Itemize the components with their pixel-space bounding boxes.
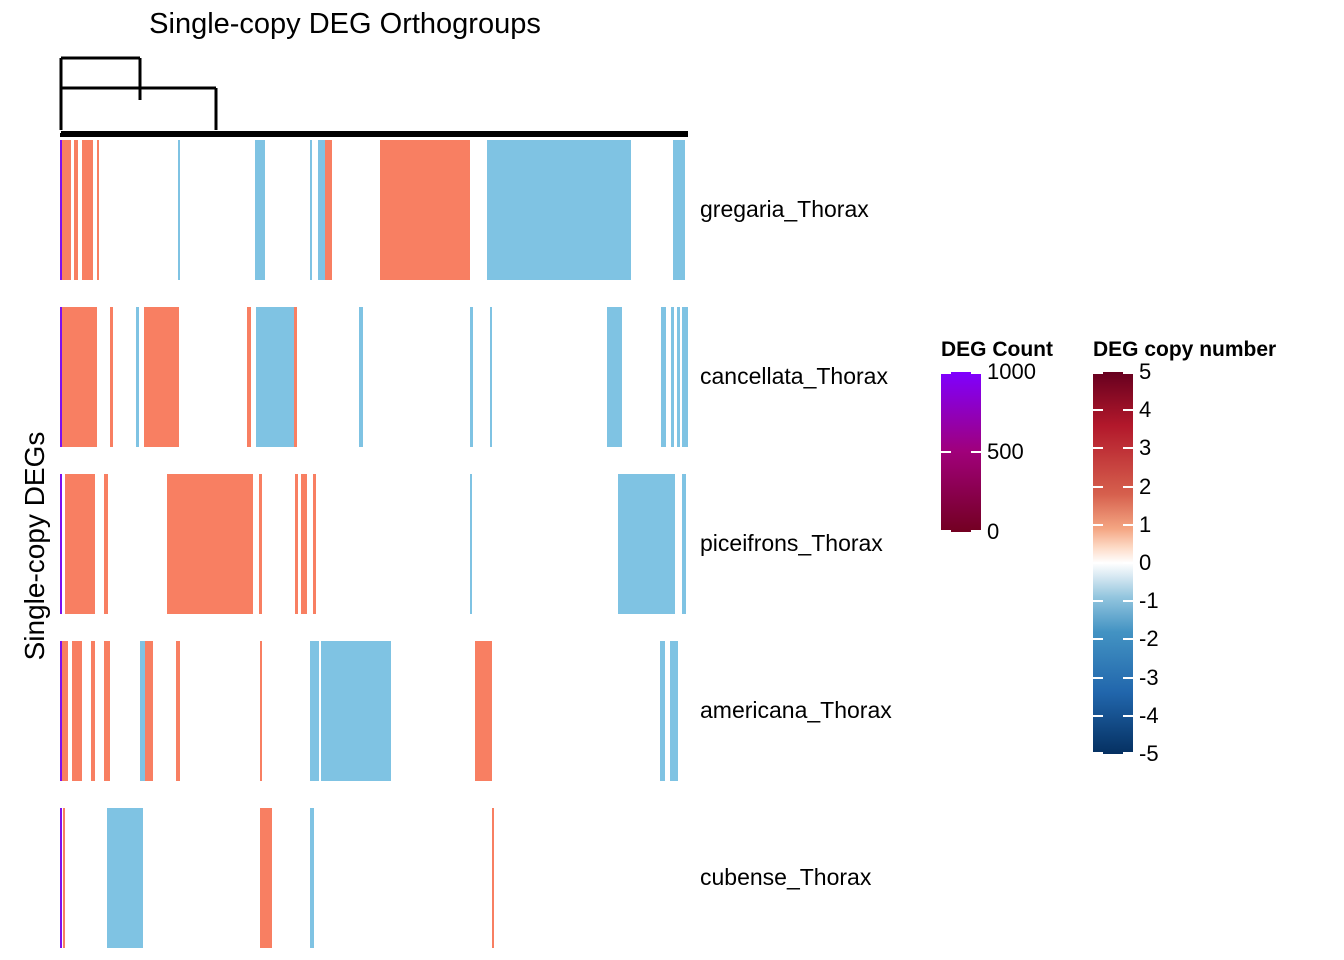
heatmap-cell — [145, 641, 153, 781]
legend-tick-label: 2 — [1139, 476, 1151, 498]
legend-tick-mark — [1093, 372, 1133, 374]
heatmap-cell — [97, 140, 99, 280]
heatmap-cell — [660, 641, 665, 781]
legend-tick-label: -5 — [1139, 743, 1159, 765]
heatmap-cell — [607, 307, 622, 447]
heatmap-cell — [63, 808, 65, 948]
legend-tick-label: 1000 — [987, 361, 1036, 383]
heatmap-cell — [62, 140, 71, 280]
heatmap-cell — [62, 641, 68, 781]
heatmap-cell — [259, 474, 262, 614]
legend-tick-label: -4 — [1139, 705, 1159, 727]
heatmap-cell — [487, 140, 631, 280]
heatmap-cell — [62, 307, 97, 447]
heatmap-cell — [682, 307, 688, 447]
heatmap-cell — [661, 307, 666, 447]
heatmap-cell — [256, 307, 296, 447]
heatmap-row-label: cubense_Thorax — [700, 866, 871, 889]
heatmap-cell — [673, 140, 685, 280]
heatmap-cell — [167, 474, 253, 614]
heatmap-cell — [301, 474, 307, 614]
heatmap-cell — [104, 474, 108, 614]
legend-tick-mark — [1093, 752, 1133, 754]
heatmap-cell — [260, 808, 272, 948]
heatmap-cell — [136, 307, 139, 447]
heatmap-cell — [74, 140, 78, 280]
legend-tick-label: -1 — [1139, 590, 1159, 612]
legend-tick-mark — [1093, 447, 1133, 449]
legend-deg-count-ticks: 10005000 — [941, 372, 981, 532]
legend-tick-label: 5 — [1139, 361, 1151, 383]
legend-tick-label: 3 — [1139, 437, 1151, 459]
legend-tick-mark — [1093, 409, 1133, 411]
heatmap-cell — [255, 140, 265, 280]
heatmap-cell — [475, 641, 492, 781]
legend-tick-label: 500 — [987, 441, 1024, 463]
legend-tick-mark — [1093, 524, 1133, 526]
legend-tick-label: 1 — [1139, 514, 1151, 536]
heatmap-cell — [670, 641, 678, 781]
heatmap-row — [60, 641, 688, 781]
heatmap-cell — [325, 140, 332, 280]
heatmap-cell — [247, 307, 251, 447]
heatmap-row — [60, 474, 688, 614]
heatmap-cell — [310, 808, 314, 948]
heatmap-cell — [677, 307, 680, 447]
legend-tick-label: 0 — [987, 521, 999, 543]
legend-tick-mark — [1093, 600, 1133, 602]
heatmap-cell — [91, 641, 95, 781]
heatmap-cell — [72, 641, 82, 781]
legend-tick-mark — [1093, 638, 1133, 640]
heatmap-cell — [310, 140, 312, 280]
heatmap-cell — [682, 474, 686, 614]
heatmap-cell — [313, 474, 316, 614]
legend-tick-mark — [1093, 562, 1133, 564]
heatmap-cell — [470, 474, 472, 614]
legend-tick-mark — [941, 372, 981, 374]
heatmap-row — [60, 307, 688, 447]
legend-tick-label: 0 — [1139, 552, 1151, 574]
heatmap-cell — [318, 140, 325, 280]
heatmap-cell — [260, 641, 262, 781]
legend-tick-mark — [941, 451, 981, 453]
heatmap-cell — [107, 808, 143, 948]
heatmap-cell — [618, 474, 675, 614]
heatmap-cell — [104, 641, 110, 781]
legend-tick-mark — [1093, 715, 1133, 717]
heatmap-cell — [490, 307, 492, 447]
deg-count-annotation-band — [60, 474, 62, 614]
legend-tick-label: 4 — [1139, 399, 1151, 421]
legend-copy-number-ticks: 543210-1-2-3-4-5 — [1093, 372, 1133, 754]
heatmap-cell — [359, 307, 363, 447]
heatmap-cell — [380, 140, 470, 280]
heatmap-cell — [294, 307, 297, 447]
heatmap-cell — [310, 641, 319, 781]
heatmap-row-label: gregaria_Thorax — [700, 198, 869, 221]
heatmap-cell — [110, 307, 113, 447]
heatmap-row — [60, 808, 688, 948]
heatmap-cell — [65, 474, 95, 614]
heatmap-cell — [82, 140, 93, 280]
page-title: Single-copy DEG Orthogroups — [0, 8, 690, 41]
heatmap-row-label: piceifrons_Thorax — [700, 532, 883, 555]
heatmap-row — [60, 140, 688, 280]
heatmap-row-label: americana_Thorax — [700, 699, 892, 722]
legend-tick-label: -2 — [1139, 628, 1159, 650]
heatmap-cell — [176, 641, 180, 781]
legend-tick-mark — [941, 530, 981, 532]
heatmap-cell — [671, 307, 674, 447]
y-axis-label: Single-copy DEGs — [19, 346, 51, 746]
deg-count-annotation-band — [60, 808, 62, 948]
heatmap-cell — [492, 808, 494, 948]
legend-tick-mark — [1093, 486, 1133, 488]
heatmap-cell — [295, 474, 298, 614]
heatmap-row-label: cancellata_Thorax — [700, 365, 888, 388]
heatmap-cell — [178, 140, 180, 280]
heatmap-cell — [144, 307, 179, 447]
legend-tick-mark — [1093, 677, 1133, 679]
legend-copy-number-title: DEG copy number — [1093, 338, 1276, 362]
heatmap-cell — [321, 641, 391, 781]
legend-tick-label: -3 — [1139, 667, 1159, 689]
heatmap-cell — [470, 307, 473, 447]
